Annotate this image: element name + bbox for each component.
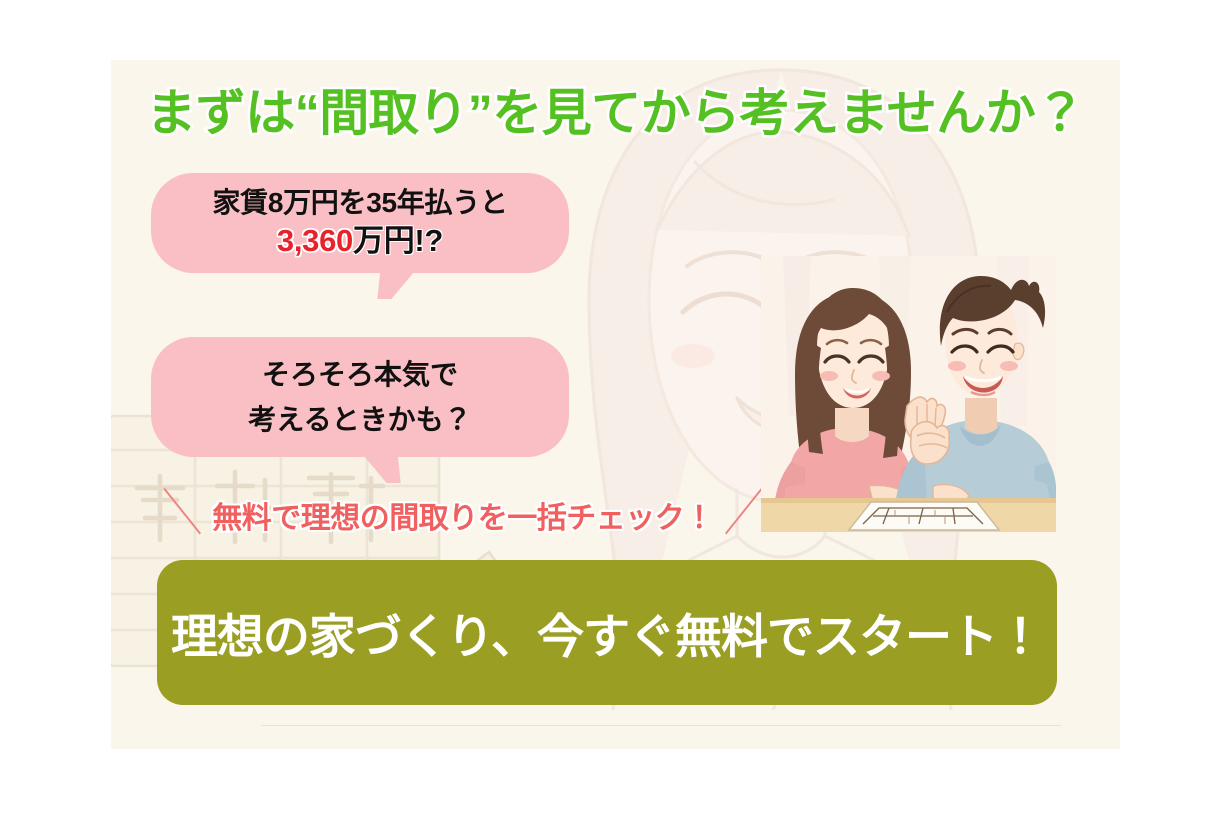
serious-timing-line-2: 考えるときかも？: [248, 397, 471, 442]
speech-tail-icon: [361, 453, 400, 483]
rent-cost-line-1: 家賃8万円を35年払うと: [212, 185, 507, 221]
slash-left-icon: ＼: [162, 489, 202, 539]
free-check-strip: ＼ 無料で理想の間取りを一括チェック！ ／: [133, 492, 793, 538]
banner-root: まずは“間取り”を見てから考えませんか？ 家賃8万円を35年払うと 3,360万…: [0, 0, 1228, 819]
rent-total-suffix: 万円!?: [353, 223, 443, 258]
rent-cost-bubble: 家賃8万円を35年払うと 3,360万円!?: [151, 173, 569, 273]
footer-divider: [261, 725, 1061, 726]
couple-looking-at-floor-plan-illustration: [761, 256, 1056, 532]
page-title: まずは“間取り”を見てから考えませんか？: [111, 85, 1120, 141]
slash-right-icon: ／: [724, 489, 764, 539]
free-check-text: 無料で理想の間取りを一括チェック！: [212, 493, 714, 537]
serious-timing-bubble: そろそろ本気で 考えるときかも？: [151, 337, 569, 457]
cta-button-label: 理想の家づくり、今すぐ無料でスタート！: [171, 598, 1043, 667]
speech-tail-icon: [377, 269, 416, 299]
rent-cost-line-2: 3,360万円!?: [277, 221, 443, 261]
serious-timing-line-1: そろそろ本気で: [262, 352, 458, 397]
rent-total-amount: 3,360: [277, 223, 353, 258]
start-free-cta-button[interactable]: 理想の家づくり、今すぐ無料でスタート！: [157, 560, 1057, 705]
banner-card: まずは“間取り”を見てから考えませんか？ 家賃8万円を35年払うと 3,360万…: [111, 60, 1120, 749]
